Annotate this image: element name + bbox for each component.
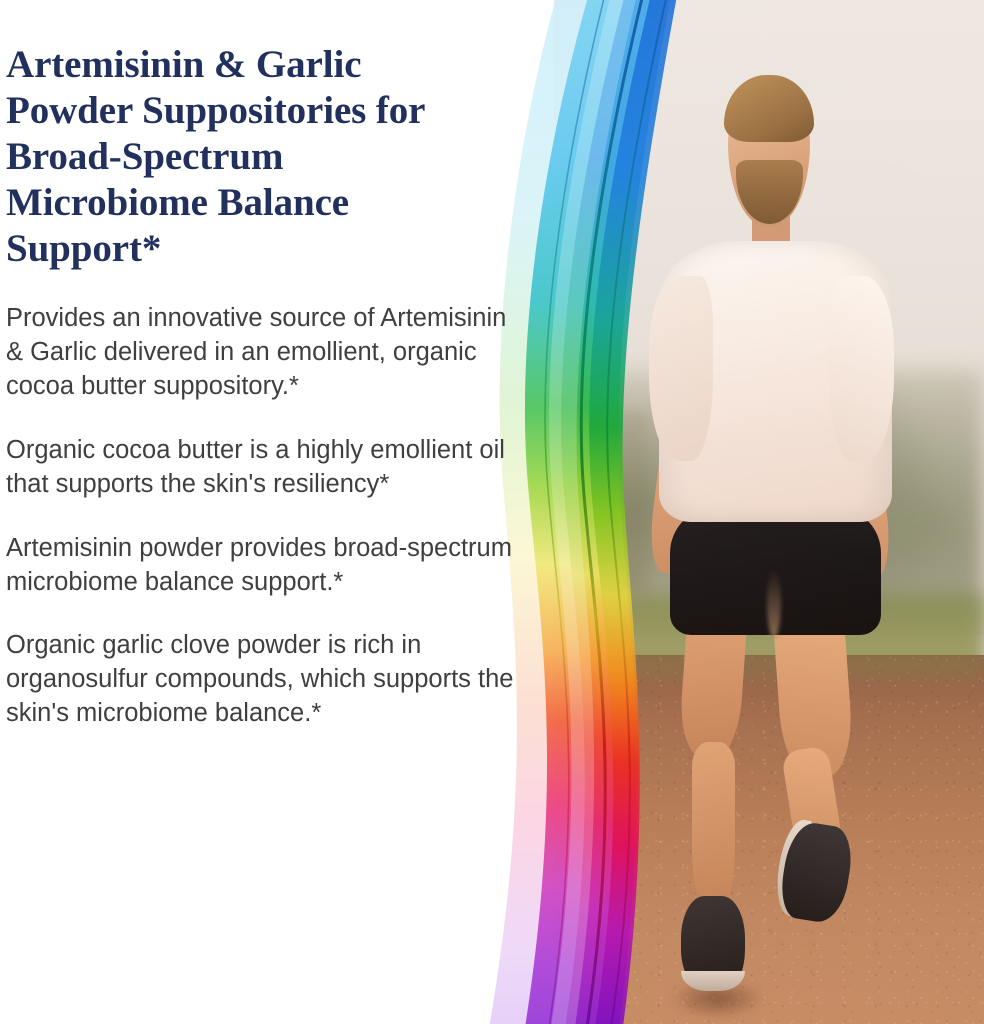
photo-scene (554, 0, 984, 1024)
body-paragraph-1: Provides an innovative source of Artemis… (6, 302, 530, 404)
right-sleeve (829, 276, 894, 460)
shorts-split (767, 568, 781, 638)
body-paragraph-2: Organic cocoa butter is a highly emollie… (6, 434, 530, 502)
text-column: Artemisinin & Garlic Powder Suppositorie… (0, 0, 540, 1024)
poster-page: Artemisinin & Garlic Powder Suppositorie… (0, 0, 984, 1024)
runner-figure (554, 0, 984, 1024)
page-title: Artemisinin & Garlic Powder Suppositorie… (6, 42, 476, 272)
left-shin (692, 742, 735, 916)
body-paragraph-4: Organic garlic clove powder is rich in o… (6, 629, 530, 731)
hair (724, 75, 814, 143)
body-paragraph-3: Artemisinin powder provides broad-spectr… (6, 532, 530, 600)
runner-photo (554, 0, 984, 1024)
left-sleeve (649, 276, 714, 460)
